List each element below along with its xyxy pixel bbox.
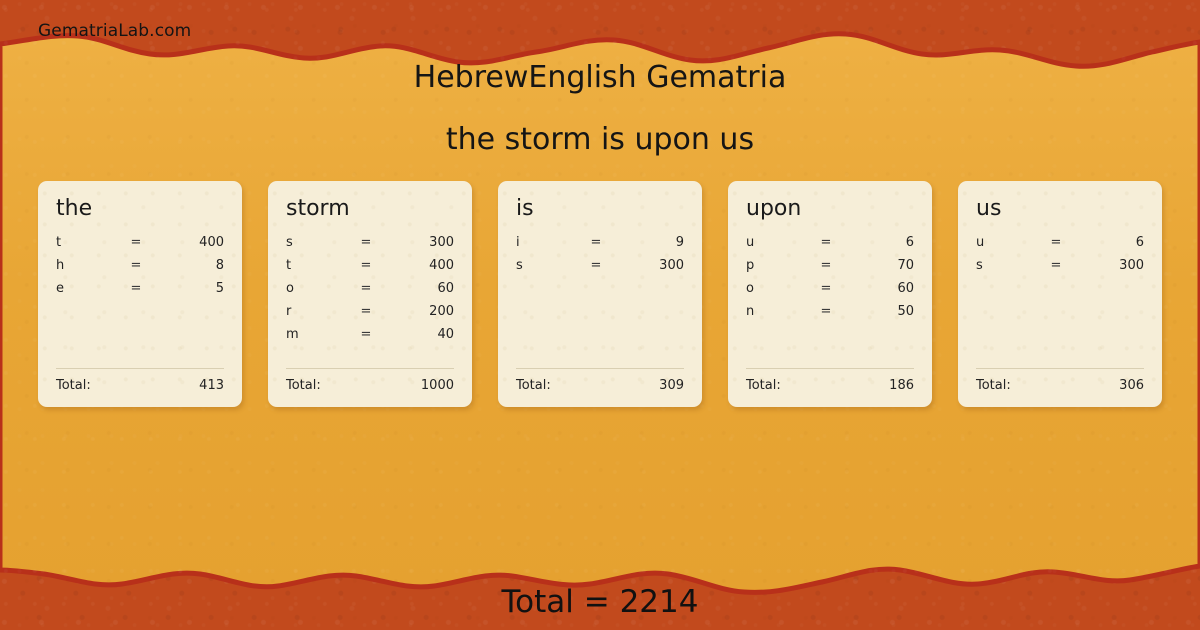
word-total-row: Total:306: [976, 378, 1144, 393]
letter-value-row: r=200: [286, 304, 454, 327]
letter-value-list: t=400h=8e=5: [56, 235, 224, 368]
letter-value: 400: [412, 258, 454, 273]
letter: o: [286, 281, 320, 296]
equals-sign: =: [90, 281, 182, 296]
equals-sign: =: [780, 304, 872, 319]
equals-sign: =: [550, 258, 642, 273]
grand-total: Total = 2214: [0, 584, 1200, 620]
letter-value-row: t=400: [286, 258, 454, 281]
letter: h: [56, 258, 90, 273]
letter-value-list: s=300t=400o=60r=200m=40: [286, 235, 454, 368]
letter: u: [746, 235, 780, 250]
letter-value-list: u=6p=70o=60n=50: [746, 235, 914, 368]
word-total-row: Total:186: [746, 378, 914, 393]
letter-value-row: e=5: [56, 281, 224, 304]
word-card: usu=6s=300Total:306: [958, 181, 1162, 407]
equals-sign: =: [550, 235, 642, 250]
word-total-value: 1000: [421, 378, 454, 393]
word-total-label: Total:: [56, 378, 91, 393]
word-label: the: [56, 197, 224, 221]
equals-sign: =: [1010, 258, 1102, 273]
letter: o: [746, 281, 780, 296]
letter-value-list: u=6s=300: [976, 235, 1144, 368]
card-divider: [56, 368, 224, 369]
word-card: storms=300t=400o=60r=200m=40Total:1000: [268, 181, 472, 407]
card-divider: [976, 368, 1144, 369]
letter-value: 300: [1102, 258, 1144, 273]
phrase-subtitle: the storm is upon us: [0, 122, 1200, 157]
word-card: thet=400h=8e=5Total:413: [38, 181, 242, 407]
equals-sign: =: [320, 304, 412, 319]
letter-value: 60: [872, 281, 914, 296]
letter-value: 50: [872, 304, 914, 319]
word-total-label: Total:: [976, 378, 1011, 393]
word-label: storm: [286, 197, 454, 221]
letter-value: 60: [412, 281, 454, 296]
equals-sign: =: [780, 235, 872, 250]
word-total-value: 309: [659, 378, 684, 393]
letter: s: [976, 258, 1010, 273]
word-total-row: Total:309: [516, 378, 684, 393]
letter-value: 200: [412, 304, 454, 319]
word-total-row: Total:1000: [286, 378, 454, 393]
letter-value-row: h=8: [56, 258, 224, 281]
equals-sign: =: [90, 235, 182, 250]
letter: t: [286, 258, 320, 273]
equals-sign: =: [320, 327, 412, 342]
letter-value-row: o=60: [286, 281, 454, 304]
word-card: isi=9s=300Total:309: [498, 181, 702, 407]
equals-sign: =: [320, 258, 412, 273]
letter-value: 9: [642, 235, 684, 250]
word-total-label: Total:: [746, 378, 781, 393]
equals-sign: =: [320, 281, 412, 296]
word-card: uponu=6p=70o=60n=50Total:186: [728, 181, 932, 407]
letter: u: [976, 235, 1010, 250]
card-divider: [746, 368, 914, 369]
gematria-image: GematriaLab.com HebrewEnglish Gematria t…: [0, 0, 1200, 630]
letter-value-row: s=300: [976, 258, 1144, 281]
letter: m: [286, 327, 320, 342]
letter-value-row: s=300: [286, 235, 454, 258]
letter: s: [516, 258, 550, 273]
letter-value-row: p=70: [746, 258, 914, 281]
word-label: is: [516, 197, 684, 221]
letter: i: [516, 235, 550, 250]
letter-value-row: m=40: [286, 327, 454, 350]
letter: t: [56, 235, 90, 250]
word-total-label: Total:: [286, 378, 321, 393]
letter-value: 6: [872, 235, 914, 250]
letter-value-row: n=50: [746, 304, 914, 327]
word-label: upon: [746, 197, 914, 221]
letter-value: 40: [412, 327, 454, 342]
equals-sign: =: [780, 258, 872, 273]
letter-value-row: u=6: [976, 235, 1144, 258]
equals-sign: =: [1010, 235, 1102, 250]
word-total-value: 186: [889, 378, 914, 393]
equals-sign: =: [780, 281, 872, 296]
equals-sign: =: [90, 258, 182, 273]
word-total-value: 306: [1119, 378, 1144, 393]
letter-value-row: o=60: [746, 281, 914, 304]
letter-value: 400: [182, 235, 224, 250]
letter-value: 6: [1102, 235, 1144, 250]
letter-value-row: u=6: [746, 235, 914, 258]
letter-value-list: i=9s=300: [516, 235, 684, 368]
letter-value-row: s=300: [516, 258, 684, 281]
card-divider: [286, 368, 454, 369]
letter: r: [286, 304, 320, 319]
letter: p: [746, 258, 780, 273]
letter-value: 300: [642, 258, 684, 273]
letter-value: 8: [182, 258, 224, 273]
letter: e: [56, 281, 90, 296]
word-total-value: 413: [199, 378, 224, 393]
card-divider: [516, 368, 684, 369]
word-total-label: Total:: [516, 378, 551, 393]
letter: n: [746, 304, 780, 319]
letter-value-row: i=9: [516, 235, 684, 258]
word-card-list: thet=400h=8e=5Total:413storms=300t=400o=…: [38, 181, 1162, 407]
letter-value: 300: [412, 235, 454, 250]
letter-value: 70: [872, 258, 914, 273]
equals-sign: =: [320, 235, 412, 250]
letter: s: [286, 235, 320, 250]
page-title: HebrewEnglish Gematria: [0, 60, 1200, 95]
letter-value: 5: [182, 281, 224, 296]
letter-value-row: t=400: [56, 235, 224, 258]
word-total-row: Total:413: [56, 378, 224, 393]
site-name: GematriaLab.com: [38, 21, 191, 41]
word-label: us: [976, 197, 1144, 221]
